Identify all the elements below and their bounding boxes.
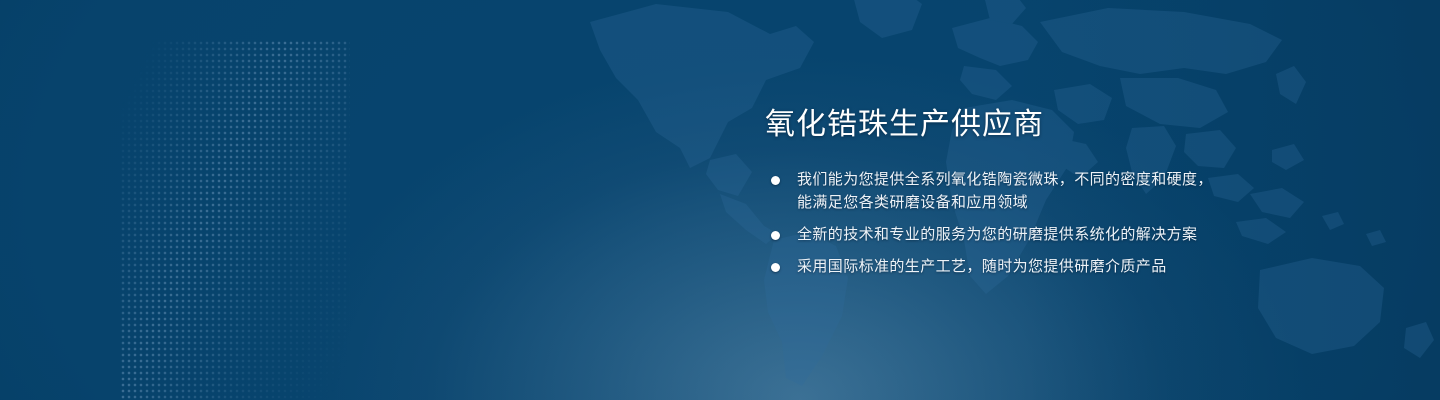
banner-copy: 氧化锆珠生产供应商 我们能为您提供全系列氧化锆陶瓷微珠，不同的密度和硬度， 能满… xyxy=(765,106,1405,278)
list-item-line: 全新的技术和专业的服务为您的研磨提供系统化的解决方案 xyxy=(797,223,1405,246)
bullet-dot-icon xyxy=(771,176,780,185)
list-item: 我们能为您提供全系列氧化锆陶瓷微珠，不同的密度和硬度， 能满足您各类研磨设备和应… xyxy=(765,168,1405,214)
feature-list: 我们能为您提供全系列氧化锆陶瓷微珠，不同的密度和硬度， 能满足您各类研磨设备和应… xyxy=(765,168,1405,278)
hero-banner: 氧化锆珠生产供应商 我们能为您提供全系列氧化锆陶瓷微珠，不同的密度和硬度， 能满… xyxy=(0,0,1440,400)
list-item-line: 我们能为您提供全系列氧化锆陶瓷微珠，不同的密度和硬度， xyxy=(797,168,1405,191)
list-item: 全新的技术和专业的服务为您的研磨提供系统化的解决方案 xyxy=(765,223,1405,246)
list-item-line: 采用国际标准的生产工艺，随时为您提供研磨介质产品 xyxy=(797,255,1405,278)
page-title: 氧化锆珠生产供应商 xyxy=(765,106,1405,144)
bullet-dot-icon xyxy=(771,263,780,272)
list-item-line: 能满足您各类研磨设备和应用领域 xyxy=(797,191,1405,214)
list-item: 采用国际标准的生产工艺，随时为您提供研磨介质产品 xyxy=(765,255,1405,278)
bullet-dot-icon xyxy=(771,231,780,240)
